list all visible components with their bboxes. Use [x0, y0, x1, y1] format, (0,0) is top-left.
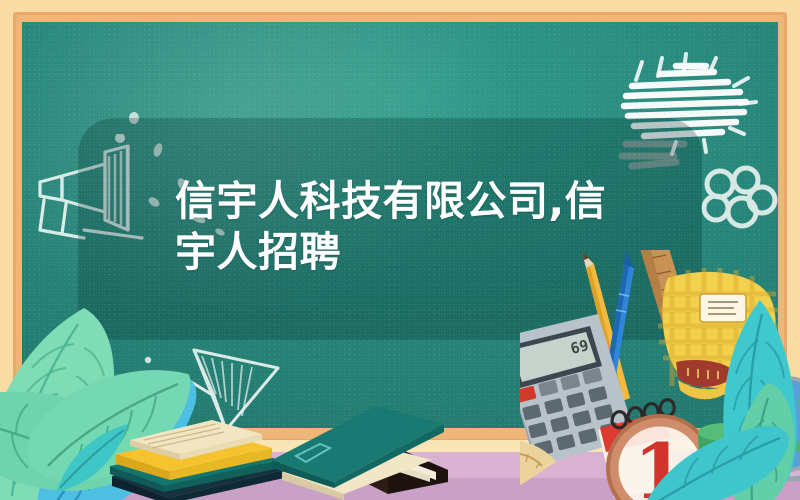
poster-canvas: 信宇人科技有限公司,信宇人招聘	[0, 0, 800, 500]
book-stack-center	[268, 398, 498, 500]
flower-cloud-icon	[690, 164, 778, 250]
book-stack-left	[108, 414, 288, 500]
teal-leaf-bottom-icon	[640, 420, 800, 500]
